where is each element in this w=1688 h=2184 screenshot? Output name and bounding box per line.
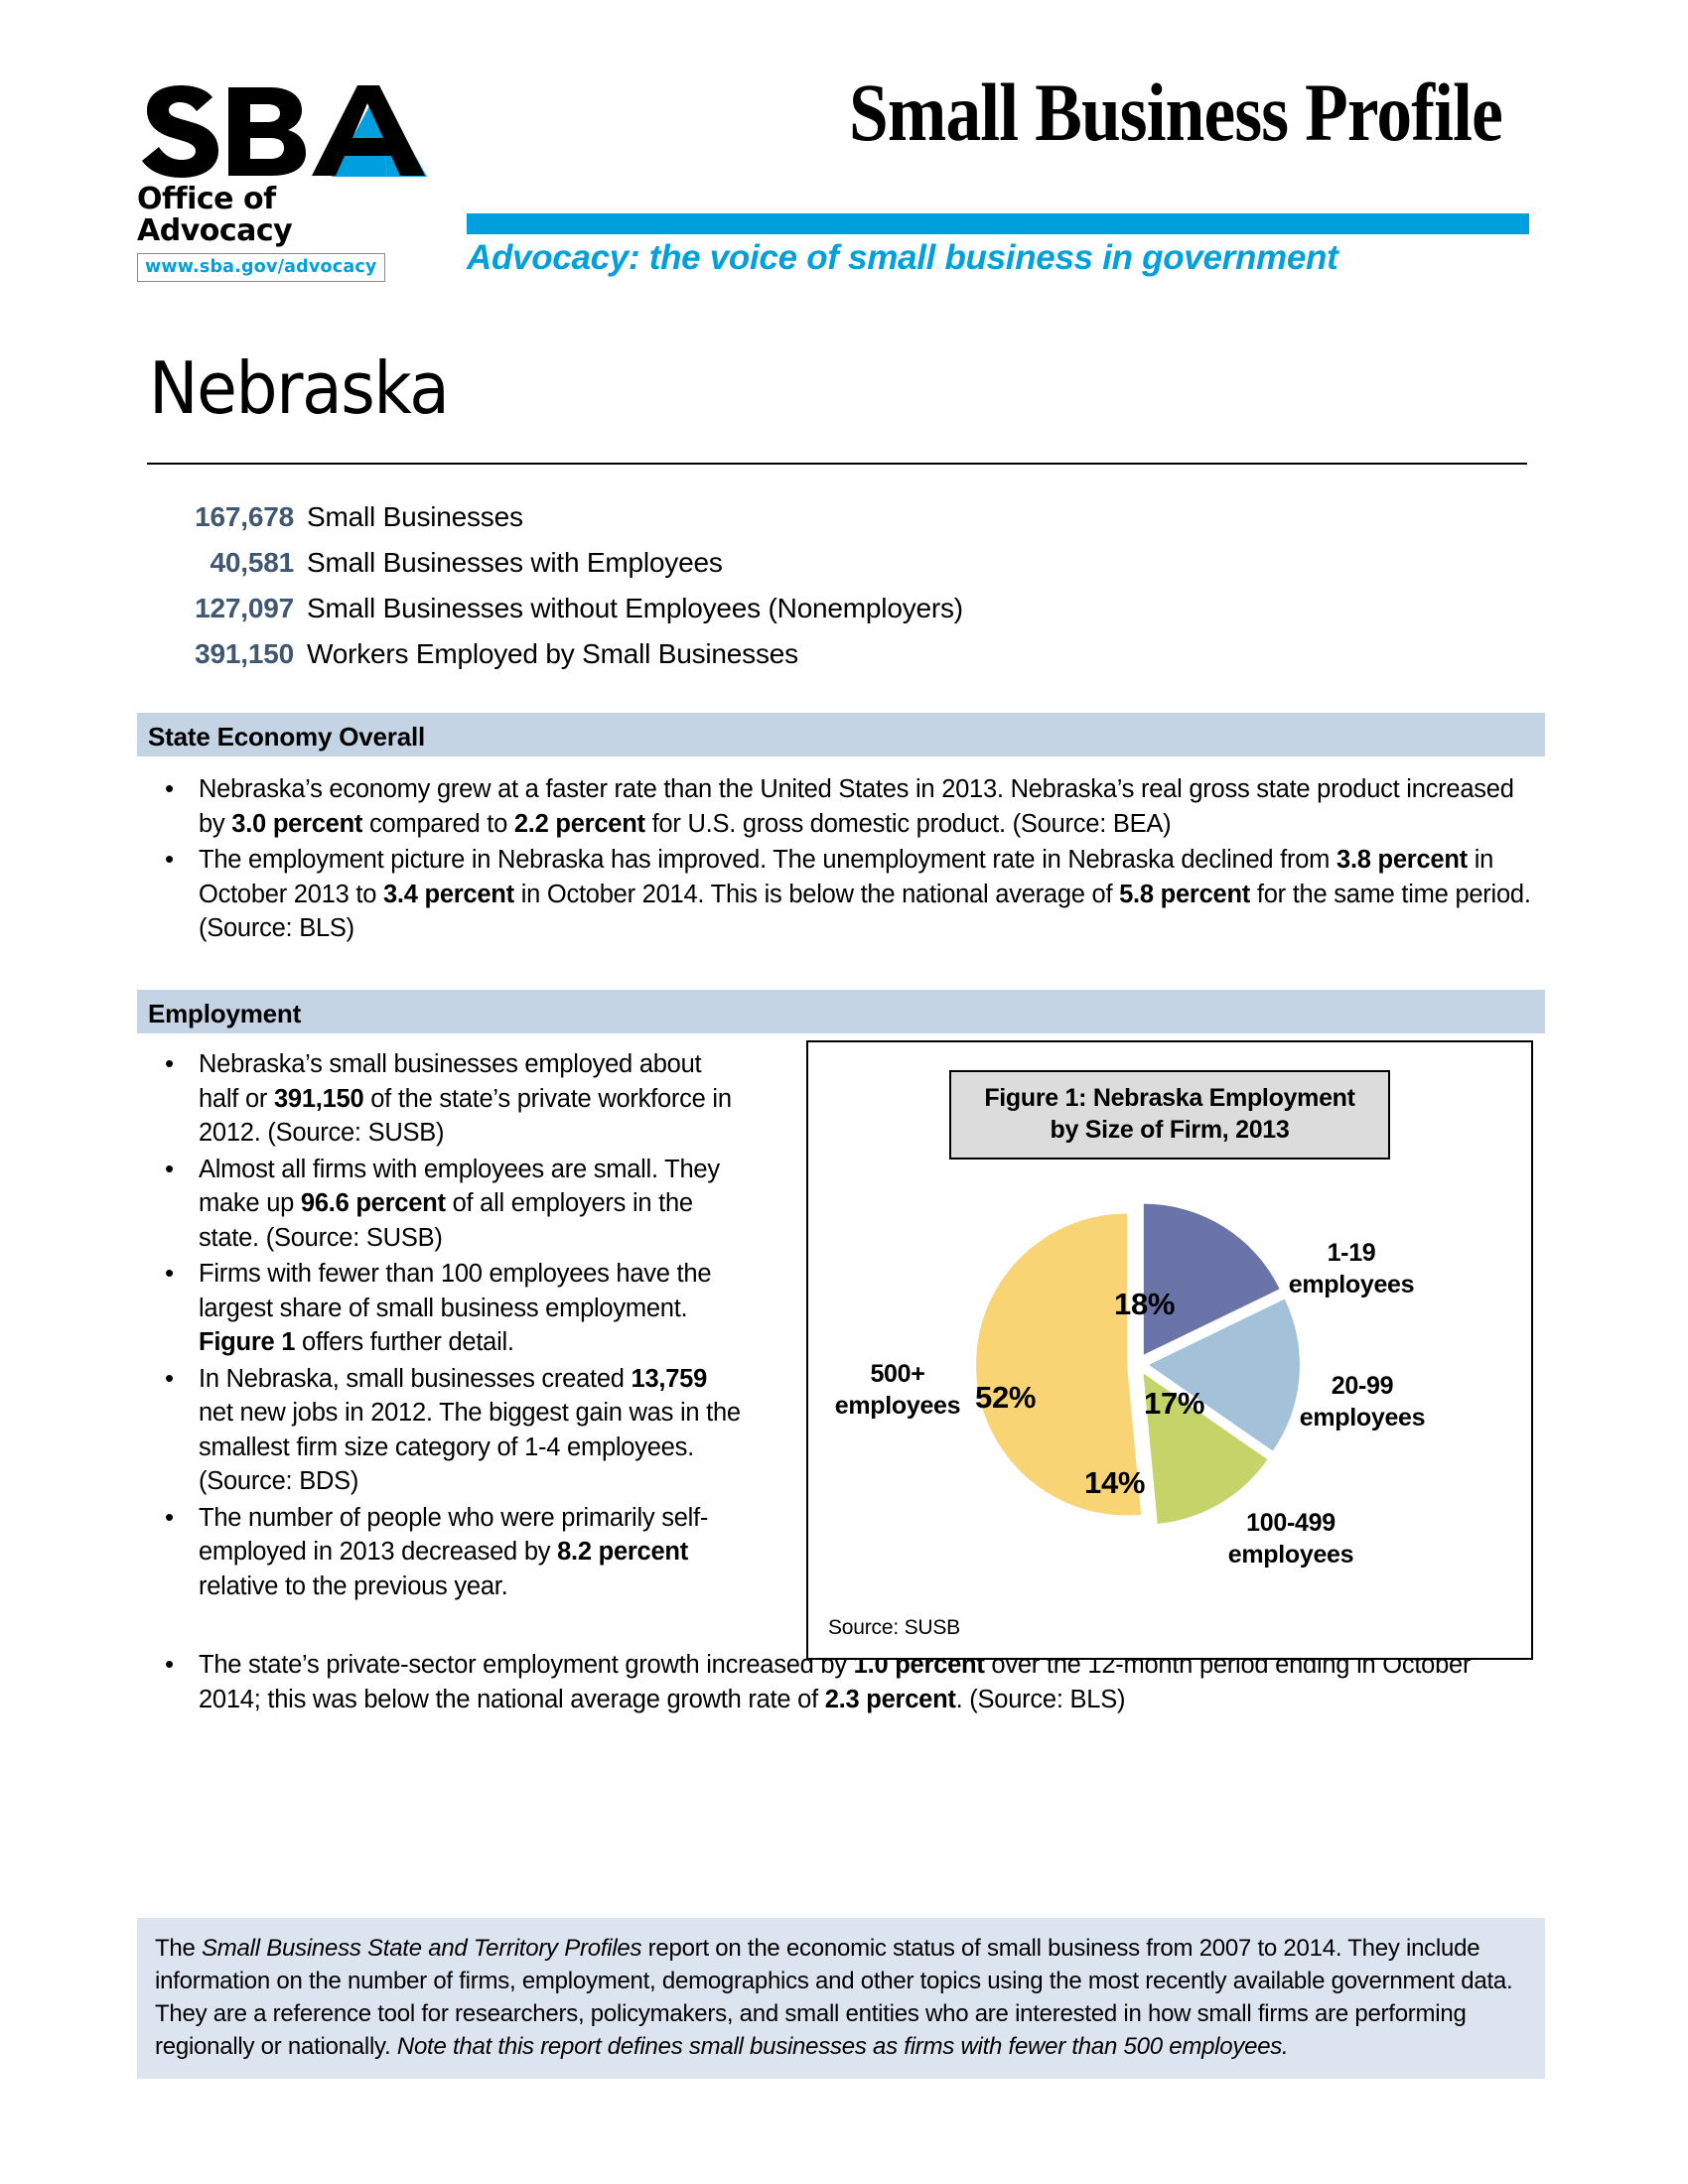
pie-category-line1: 1-19	[1257, 1237, 1446, 1269]
stat-label: Workers Employed by Small Businesses	[294, 631, 798, 677]
section-header-employment: Employment	[137, 990, 1545, 1033]
pie-category-label-1-19: 1-19 employees	[1257, 1237, 1446, 1300]
footer-italic1: Small Business State and Territory Profi…	[202, 1935, 641, 1962]
footer-part1: The	[155, 1935, 202, 1962]
sba-advocacy-logo: Office of Advocacy www.sba.gov/advocacy	[137, 77, 435, 282]
section-header-state-economy: State Economy Overall	[137, 713, 1545, 756]
logo-url-text: www.sba.gov/advocacy	[137, 253, 385, 282]
list-item: Firms with fewer than 100 employees have…	[147, 1257, 743, 1360]
document-header: Office of Advocacy www.sba.gov/advocacy …	[0, 0, 1688, 298]
stat-value: 127,097	[147, 586, 294, 631]
pie-category-line2: employees	[1257, 1269, 1446, 1300]
employment-bullets-column: Nebraska’s small businesses employed abo…	[147, 1047, 743, 1605]
document-page: Office of Advocacy www.sba.gov/advocacy …	[0, 0, 1688, 2184]
page-title: Small Business Profile	[849, 71, 1447, 154]
stat-row: 40,581 Small Businesses with Employees	[147, 540, 1398, 586]
title-divider	[147, 463, 1527, 465]
pie-category-line1: 20-99	[1263, 1370, 1462, 1402]
state-economy-bullets: Nebraska’s economy grew at a faster rate…	[147, 772, 1537, 948]
sba-logo-mark	[137, 77, 430, 182]
pie-category-line2: employees	[800, 1390, 995, 1422]
pie-category-line1: 500+	[800, 1358, 995, 1390]
figure-1-container: Figure 1: Nebraska Employment by Size of…	[806, 1040, 1533, 1660]
stat-value: 40,581	[147, 540, 294, 586]
list-item: In Nebraska, small businesses created 13…	[147, 1362, 743, 1499]
figure-title-line2: by Size of Firm, 2013	[957, 1114, 1382, 1146]
stat-value: 167,678	[147, 494, 294, 540]
list-item: Nebraska’s small businesses employed abo…	[147, 1047, 743, 1151]
footer-text: The Small Business State and Territory P…	[155, 1932, 1527, 2063]
logo-office-text: Office of Advocacy	[137, 184, 435, 246]
pie-category-line2: employees	[1263, 1402, 1462, 1433]
pie-chart-area: 18% 17% 14% 52% 1-19 employees 20-99 emp…	[808, 1160, 1531, 1626]
key-statistics-list: 167,678 Small Businesses 40,581 Small Bu…	[147, 494, 1398, 677]
pie-category-label-500plus: 500+ employees	[800, 1358, 995, 1422]
list-item: Nebraska’s economy grew at a faster rate…	[147, 772, 1537, 841]
footer-disclaimer: The Small Business State and Territory P…	[137, 1918, 1545, 2079]
list-item: The number of people who were primarily …	[147, 1501, 743, 1604]
list-item: The employment picture in Nebraska has i…	[147, 843, 1537, 946]
list-item: Almost all firms with employees are smal…	[147, 1153, 743, 1256]
stat-row: 127,097 Small Businesses without Employe…	[147, 586, 1398, 631]
figure-source-note: Source: SUSB	[828, 1616, 960, 1640]
stat-label: Small Businesses with Employees	[294, 540, 723, 586]
state-name-heading: Nebraska	[149, 352, 448, 424]
pie-category-line1: 100-499	[1184, 1507, 1398, 1539]
section-header-label: State Economy Overall	[137, 713, 1545, 752]
stat-label: Small Businesses	[294, 494, 523, 540]
pie-value-label-100-499: 14%	[1084, 1465, 1145, 1501]
section-header-label: Employment	[137, 990, 1545, 1029]
figure-title-line1: Figure 1: Nebraska Employment	[957, 1082, 1382, 1114]
stat-label: Small Businesses without Employees (None…	[294, 586, 963, 631]
pie-category-label-100-499: 100-499 employees	[1184, 1507, 1398, 1570]
pie-category-line2: employees	[1184, 1539, 1398, 1570]
stat-row: 391,150 Workers Employed by Small Busine…	[147, 631, 1398, 677]
stat-value: 391,150	[147, 631, 294, 677]
stat-row: 167,678 Small Businesses	[147, 494, 1398, 540]
pie-value-label-20-99: 17%	[1144, 1386, 1204, 1422]
header-tagline: Advocacy: the voice of small business in…	[467, 238, 1559, 278]
pie-category-label-20-99: 20-99 employees	[1263, 1370, 1462, 1433]
header-accent-bar	[467, 213, 1529, 234]
pie-value-label-1-19: 18%	[1114, 1287, 1175, 1322]
figure-title: Figure 1: Nebraska Employment by Size of…	[949, 1070, 1390, 1160]
footer-italic2: Note that this report defines small busi…	[397, 2033, 1289, 2060]
